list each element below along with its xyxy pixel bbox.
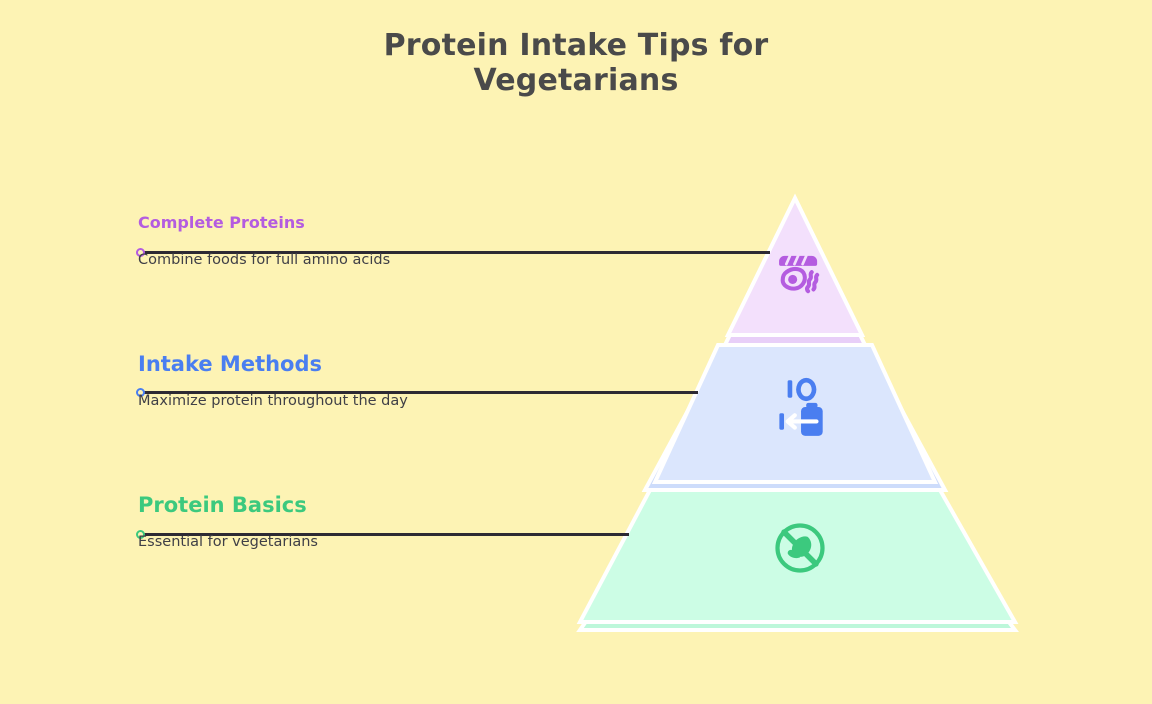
tier-description: Combine foods for full amino acids (138, 250, 428, 271)
tier-label-complete-proteins[interactable]: Complete Proteins Combine foods for full… (138, 214, 428, 271)
tier-label-protein-basics[interactable]: Protein Basics Essential for vegetarians (138, 494, 428, 553)
no-meat-vegetarian-icon (770, 518, 830, 578)
tier-heading: Complete Proteins (138, 214, 428, 232)
tier-description: Maximize protein throughout the day (138, 391, 438, 412)
tier-heading: Protein Basics (138, 494, 428, 517)
infographic-canvas: Protein Intake Tips for Vegetarians (0, 0, 1152, 704)
egg-bacon-bread-icon (770, 245, 828, 303)
tier-label-intake-methods[interactable]: Intake Methods Maximize protein througho… (138, 353, 438, 412)
supplement-bottle-dosage-icon (767, 374, 833, 440)
page-title: Protein Intake Tips for Vegetarians (326, 28, 826, 98)
tier-heading: Intake Methods (138, 353, 438, 376)
tier-description: Essential for vegetarians (138, 532, 428, 553)
